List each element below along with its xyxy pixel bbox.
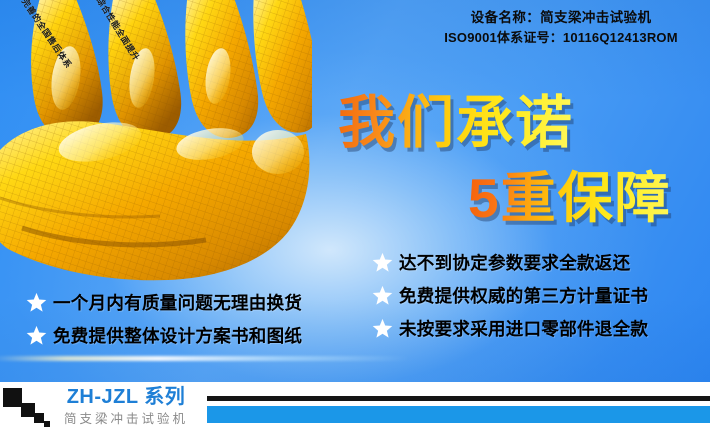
golden-hand-image: 完善的全国售后体系 综合性能全面提升 bbox=[0, 0, 312, 292]
list-item: 未按要求采用进口零部件退全款 bbox=[372, 312, 648, 345]
list-item: 免费提供权威的第三方计量证书 bbox=[372, 279, 648, 312]
product-series-name: ZH-JZL 系列 bbox=[56, 384, 196, 410]
decorative-squares bbox=[3, 388, 58, 428]
list-item: 一个月内有质量问题无理由换货 bbox=[26, 286, 302, 319]
guarantee-list-right: 达不到协定参数要求全款返还 免费提供权威的第三方计量证书 未按要求采用进口零部件… bbox=[372, 246, 648, 345]
iso-certificate-line: ISO9001体系证号：10116Q12413ROM bbox=[420, 28, 702, 48]
star-icon bbox=[26, 325, 47, 346]
guarantee-text: 免费提供整体设计方案书和图纸 bbox=[53, 323, 302, 348]
list-item: 免费提供整体设计方案书和图纸 bbox=[26, 319, 302, 352]
square-decoration bbox=[44, 421, 50, 427]
guarantee-text: 一个月内有质量问题无理由换货 bbox=[53, 290, 302, 315]
star-icon bbox=[372, 285, 393, 306]
star-icon bbox=[26, 292, 47, 313]
list-item: 达不到协定参数要求全款返还 bbox=[372, 246, 648, 279]
star-icon bbox=[372, 318, 393, 339]
guarantee-text: 免费提供权威的第三方计量证书 bbox=[399, 283, 648, 308]
square-decoration bbox=[21, 403, 35, 417]
guarantee-text: 达不到协定参数要求全款返还 bbox=[399, 250, 630, 275]
headline-primary: 我们承诺 bbox=[338, 92, 574, 154]
header-info: 设备名称：简支梁冲击试验机 ISO9001体系证号：10116Q12413ROM bbox=[420, 8, 702, 48]
star-icon bbox=[372, 252, 393, 273]
brand-block: ZH-JZL 系列 简支梁冲击试验机 bbox=[56, 384, 196, 428]
square-decoration bbox=[34, 413, 44, 423]
blue-rule bbox=[207, 406, 710, 423]
square-decoration bbox=[3, 388, 22, 407]
product-description: 简支梁冲击试验机 bbox=[56, 410, 196, 428]
equipment-name-line: 设备名称：简支梁冲击试验机 bbox=[420, 8, 702, 28]
promotional-banner: 完善的全国售后体系 综合性能全面提升 设备名称：简支梁冲击试验机 ISO9001… bbox=[0, 0, 710, 434]
footer-bar: ZH-JZL 系列 简支梁冲击试验机 bbox=[0, 382, 710, 434]
light-streak-decoration bbox=[0, 356, 410, 361]
guarantee-list-left: 一个月内有质量问题无理由换货 免费提供整体设计方案书和图纸 bbox=[26, 286, 302, 352]
guarantee-text: 未按要求采用进口零部件退全款 bbox=[399, 316, 648, 341]
headline-secondary: 5重保障 bbox=[468, 168, 672, 228]
black-rule bbox=[207, 396, 710, 401]
